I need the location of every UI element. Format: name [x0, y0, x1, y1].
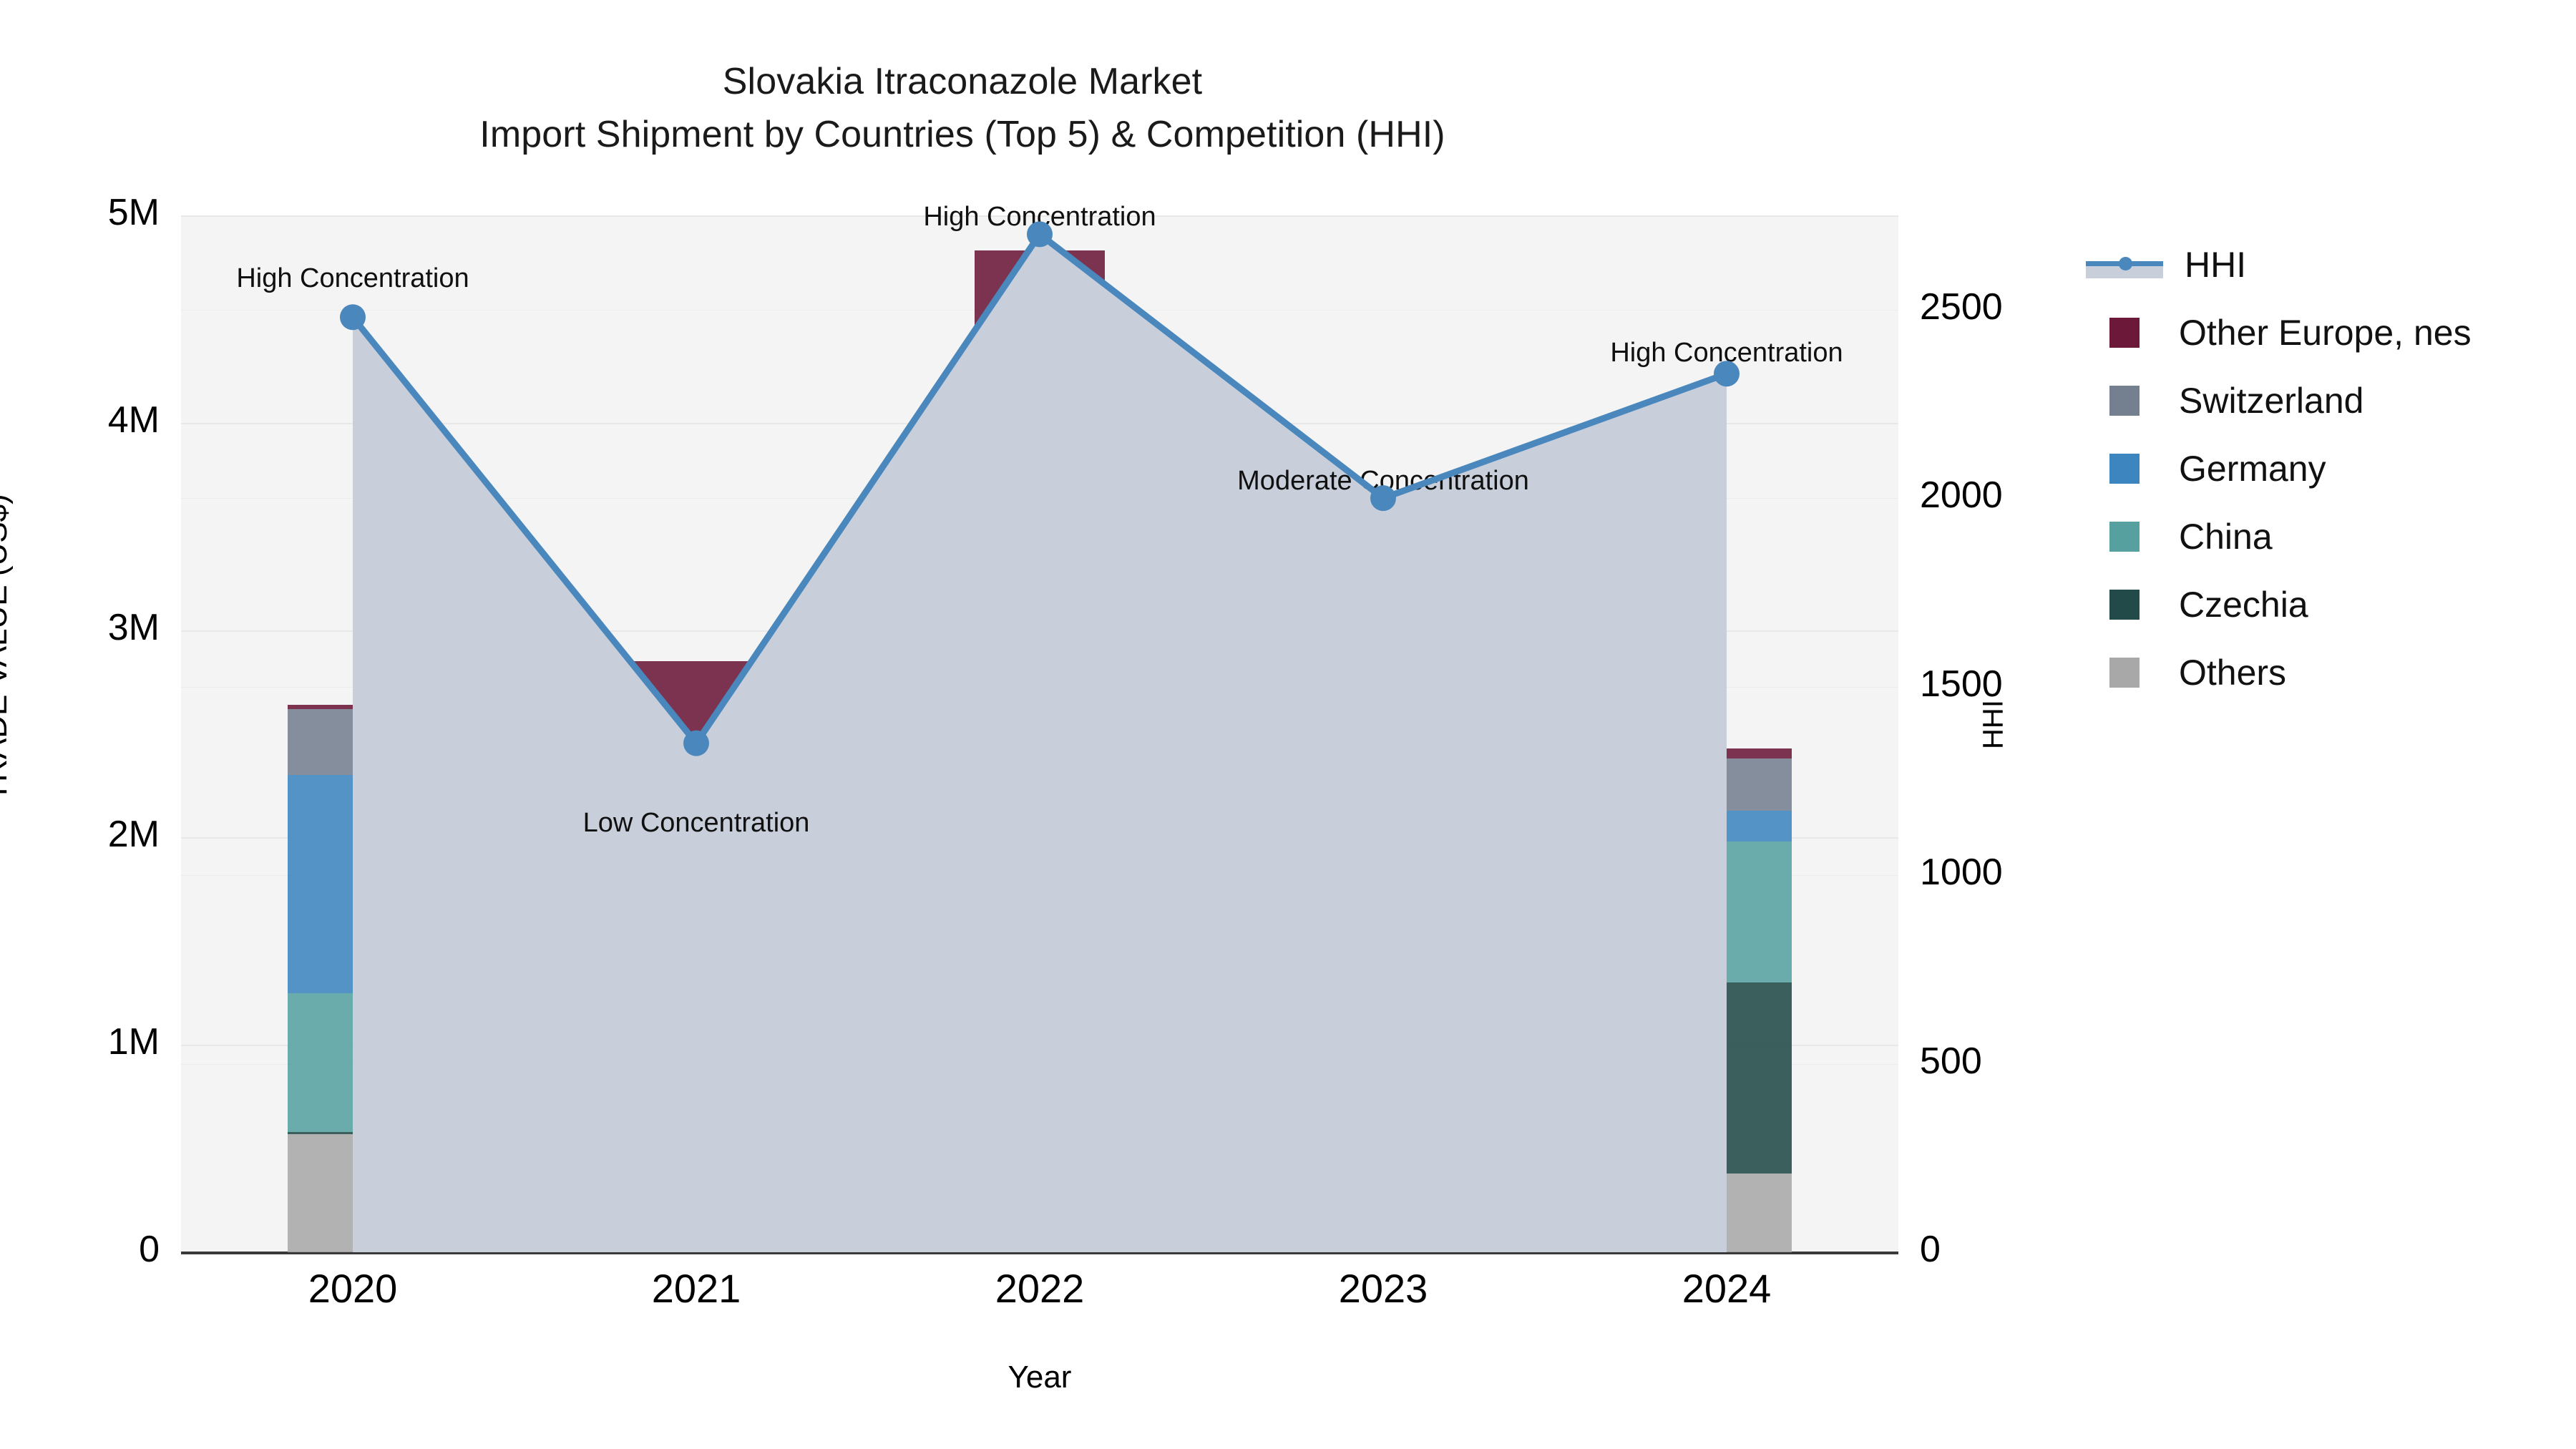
y-axis-right-label: HHI — [1978, 582, 2010, 868]
legend-item-label: Other Europe, nes — [2179, 315, 2472, 351]
bar-segment[interactable] — [1318, 850, 1448, 1005]
y-axis-right-tick: 0 — [1920, 1228, 1941, 1271]
bar-segment[interactable] — [631, 738, 761, 781]
x-axis-tick: 2024 — [1619, 1265, 1834, 1312]
x-axis-tick: 2021 — [589, 1265, 804, 1312]
concentration-annotation: High Concentration — [923, 202, 1156, 233]
y-axis-right-tick: 1000 — [1920, 851, 2003, 894]
bar-segment[interactable] — [288, 709, 418, 776]
y-axis-left-tick: 5M — [0, 191, 160, 234]
bar-segment[interactable] — [1318, 1005, 1448, 1176]
bar-segment[interactable] — [631, 850, 761, 1010]
bar-segment[interactable] — [975, 388, 1105, 471]
bar-segment[interactable] — [1318, 668, 1448, 676]
legend-item-label: Others — [2179, 655, 2286, 691]
bar-segment[interactable] — [975, 663, 1105, 1128]
y-axis-left-tick: 3M — [0, 606, 160, 649]
y-axis-left-tick: 0 — [0, 1228, 160, 1271]
legend-item[interactable]: Other Europe, nes — [2086, 298, 2558, 366]
legend-item-label: Germany — [2179, 451, 2326, 487]
legend-swatch-icon — [2109, 318, 2140, 348]
concentration-annotation: High Concentration — [1610, 338, 1843, 369]
x-axis-tick: 2022 — [932, 1265, 1147, 1312]
legend-item-label: China — [2179, 519, 2273, 555]
bar-segment[interactable] — [288, 705, 418, 709]
x-axis-tick: 2023 — [1276, 1265, 1491, 1312]
bar-segment[interactable] — [975, 1128, 1105, 1252]
legend-swatch-icon — [2109, 454, 2140, 484]
legend-item-label: Switzerland — [2179, 383, 2363, 419]
legend-item[interactable]: China — [2086, 502, 2558, 570]
bar-segment[interactable] — [1662, 1174, 1792, 1252]
bar-segment[interactable] — [288, 1134, 418, 1252]
concentration-annotation: Moderate Concentration — [1237, 466, 1529, 497]
legend-item-label: HHI — [2185, 247, 2246, 283]
bar-segment[interactable] — [1662, 811, 1792, 841]
legend-swatch-icon — [2109, 386, 2140, 416]
bar-segment[interactable] — [288, 775, 418, 992]
legend-swatch-icon — [2109, 522, 2140, 552]
y-axis-left-tick: 4M — [0, 399, 160, 441]
bar-segment[interactable] — [1318, 765, 1448, 850]
x-axis-tick: 2020 — [245, 1265, 460, 1312]
legend-item[interactable]: Germany — [2086, 434, 2558, 502]
y-axis-left-tick: 2M — [0, 813, 160, 856]
legend-swatch-icon — [2109, 658, 2140, 688]
x-axis-label: Year — [181, 1360, 1898, 1395]
legend-item-label: Czechia — [2179, 587, 2308, 623]
chart-figure: Slovakia Itraconazole Market Import Ship… — [0, 0, 2576, 1449]
legend-item[interactable]: Czechia — [2086, 570, 2558, 638]
bar-segment[interactable] — [288, 1132, 418, 1134]
bar-segment[interactable] — [1662, 841, 1792, 982]
legend-item[interactable]: Switzerland — [2086, 366, 2558, 434]
bar-segment[interactable] — [1318, 675, 1448, 765]
bar-segment[interactable] — [288, 993, 418, 1132]
legend-item[interactable]: Others — [2086, 638, 2558, 706]
chart-title: Slovakia Itraconazole Market — [0, 56, 1925, 109]
concentration-annotation: Low Concentration — [583, 808, 810, 839]
y-axis-right-tick: 500 — [1920, 1040, 1982, 1083]
legend-item[interactable]: HHI — [2086, 230, 2558, 298]
bar-segment[interactable] — [975, 470, 1105, 482]
legend-swatch-icon — [2109, 590, 2140, 620]
bar-segment[interactable] — [1662, 748, 1792, 758]
y-axis-right-tick: 2500 — [1920, 286, 2003, 328]
legend-line-key-icon — [2086, 250, 2163, 280]
y-axis-right-tick: 2000 — [1920, 474, 2003, 517]
legend: HHIOther Europe, nesSwitzerlandGermanyCh… — [2086, 230, 2558, 706]
bar-segment[interactable] — [1662, 982, 1792, 1174]
bar-segment[interactable] — [1662, 758, 1792, 810]
chart-subtitle: Import Shipment by Countries (Top 5) & C… — [0, 109, 1925, 162]
bar-segment[interactable] — [1318, 1176, 1448, 1252]
y-axis-left-tick: 1M — [0, 1020, 160, 1063]
bar-segment[interactable] — [631, 1010, 761, 1060]
concentration-annotation: High Concentration — [236, 263, 469, 294]
bar-segment[interactable] — [975, 250, 1105, 387]
bar-segment[interactable] — [631, 1059, 761, 1252]
chart-title-block: Slovakia Itraconazole Market Import Ship… — [0, 56, 1925, 162]
y-axis-right-tick: 1500 — [1920, 663, 2003, 706]
bar-segment[interactable] — [631, 661, 761, 738]
bar-segment[interactable] — [975, 483, 1105, 663]
